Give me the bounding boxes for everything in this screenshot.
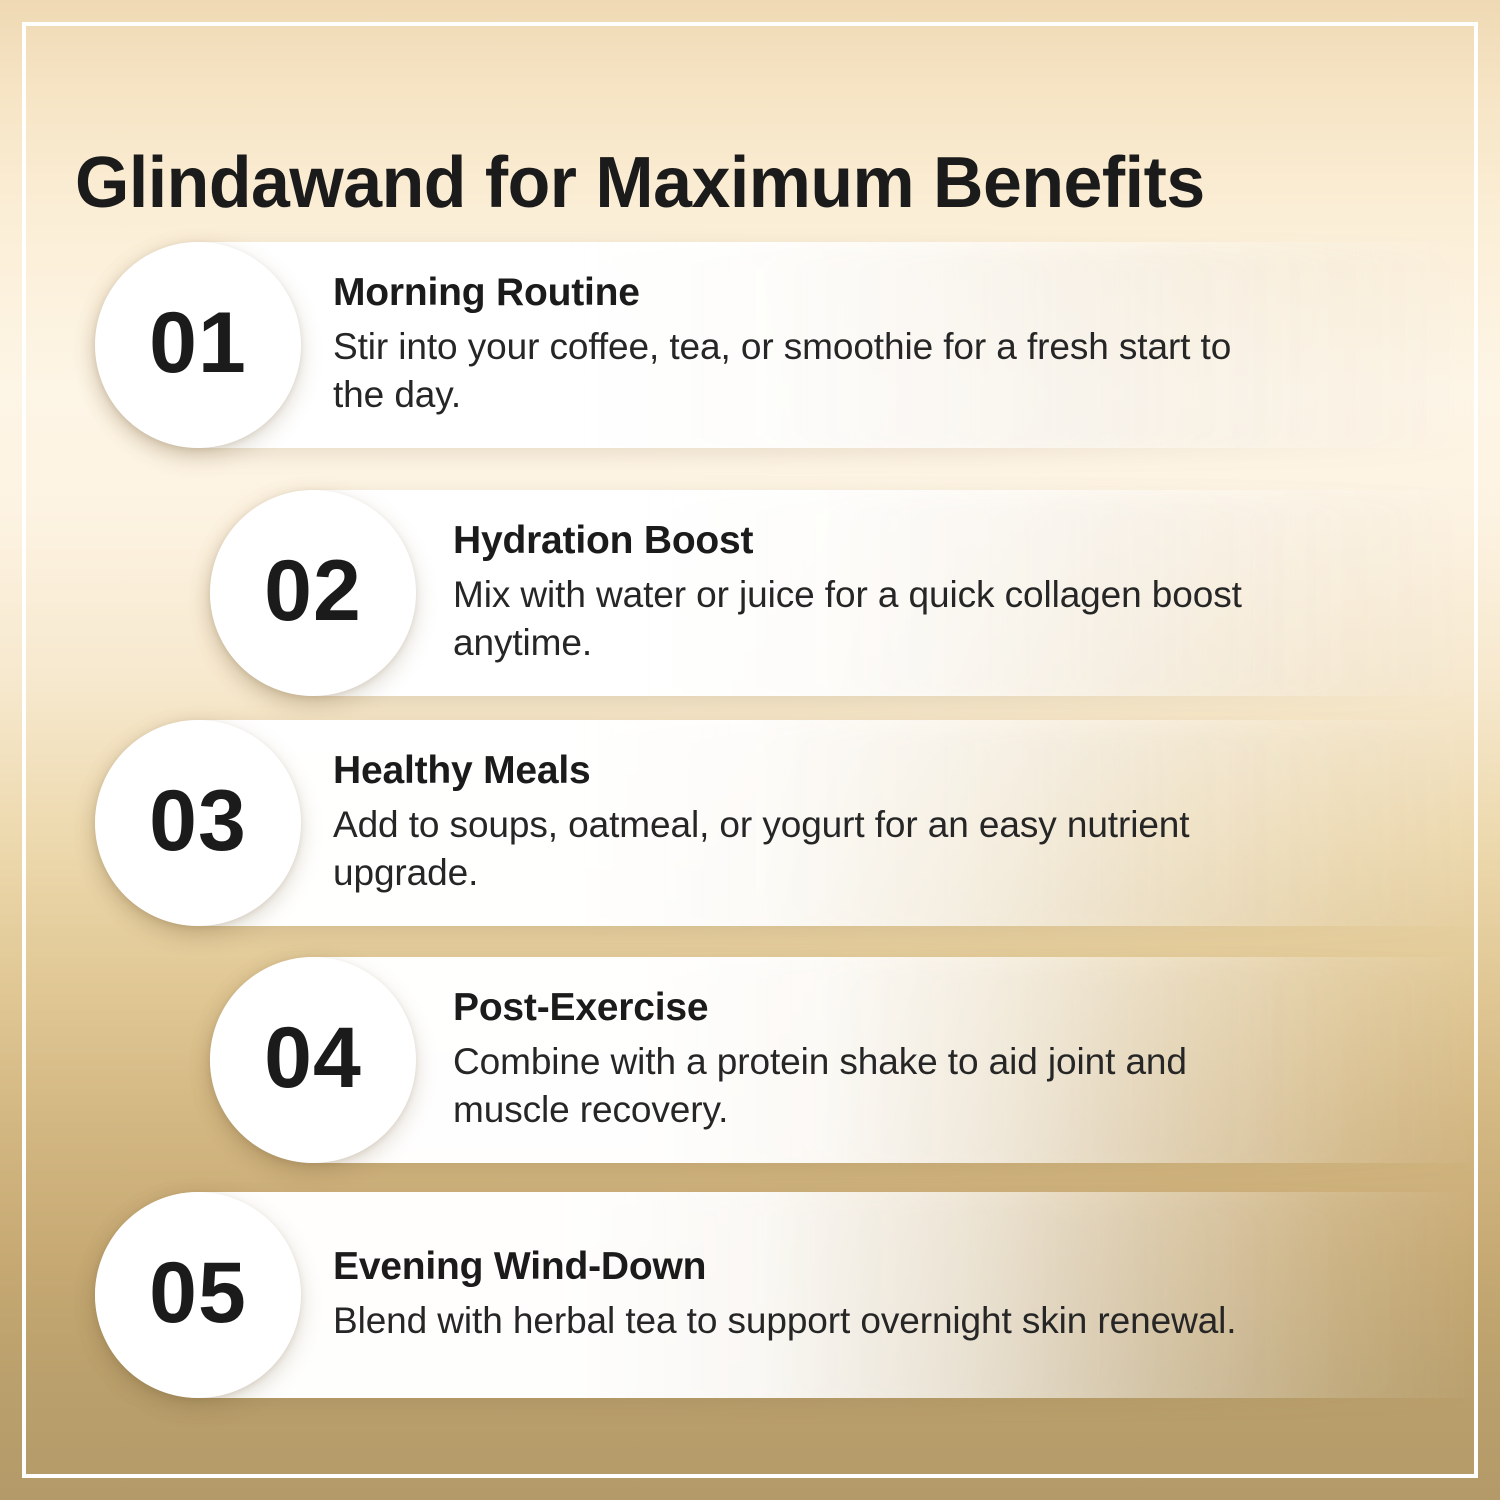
step-title: Hydration Boost — [453, 519, 1473, 563]
list-item-step-1: 01 Morning Routine Stir into your coffee… — [95, 242, 1485, 448]
step-number-label: 05 — [149, 1250, 247, 1336]
step-number-badge: 02 — [210, 490, 416, 696]
step-number-label: 01 — [149, 300, 247, 386]
infographic-poster: Glindawand for Maximum Benefits 01 Morni… — [0, 0, 1500, 1500]
step-title: Morning Routine — [333, 271, 1473, 315]
step-number-badge: 01 — [95, 242, 301, 448]
list-item-step-5: 05 Evening Wind-Down Blend with herbal t… — [95, 1192, 1485, 1398]
list-item-step-3: 03 Healthy Meals Add to soups, oatmeal, … — [95, 720, 1485, 926]
step-number-label: 04 — [264, 1015, 362, 1101]
step-number-label: 03 — [149, 778, 247, 864]
step-number-badge: 04 — [210, 957, 416, 1163]
step-number-label: 02 — [264, 548, 362, 634]
page-title: Glindawand for Maximum Benefits — [75, 146, 1394, 222]
step-description: Combine with a protein shake to aid join… — [453, 1038, 1213, 1134]
step-title: Healthy Meals — [333, 749, 1473, 793]
list-item-step-2: 02 Hydration Boost Mix with water or jui… — [210, 490, 1485, 696]
step-number-badge: 03 — [95, 720, 301, 926]
step-text-block: Evening Wind-Down Blend with herbal tea … — [333, 1192, 1473, 1398]
step-description: Mix with water or juice for a quick coll… — [453, 571, 1373, 667]
step-text-block: Post-Exercise Combine with a protein sha… — [453, 957, 1473, 1163]
step-text-block: Healthy Meals Add to soups, oatmeal, or … — [333, 720, 1473, 926]
step-description: Blend with herbal tea to support overnig… — [333, 1297, 1253, 1345]
step-description: Add to soups, oatmeal, or yogurt for an … — [333, 801, 1253, 897]
step-text-block: Morning Routine Stir into your coffee, t… — [333, 242, 1473, 448]
list-item-step-4: 04 Post-Exercise Combine with a protein … — [210, 957, 1485, 1163]
step-title: Evening Wind-Down — [333, 1245, 1473, 1289]
step-number-badge: 05 — [95, 1192, 301, 1398]
step-description: Stir into your coffee, tea, or smoothie … — [333, 323, 1253, 419]
step-text-block: Hydration Boost Mix with water or juice … — [453, 490, 1473, 696]
steps-list: 01 Morning Routine Stir into your coffee… — [0, 0, 1500, 1500]
step-title: Post-Exercise — [453, 986, 1473, 1030]
